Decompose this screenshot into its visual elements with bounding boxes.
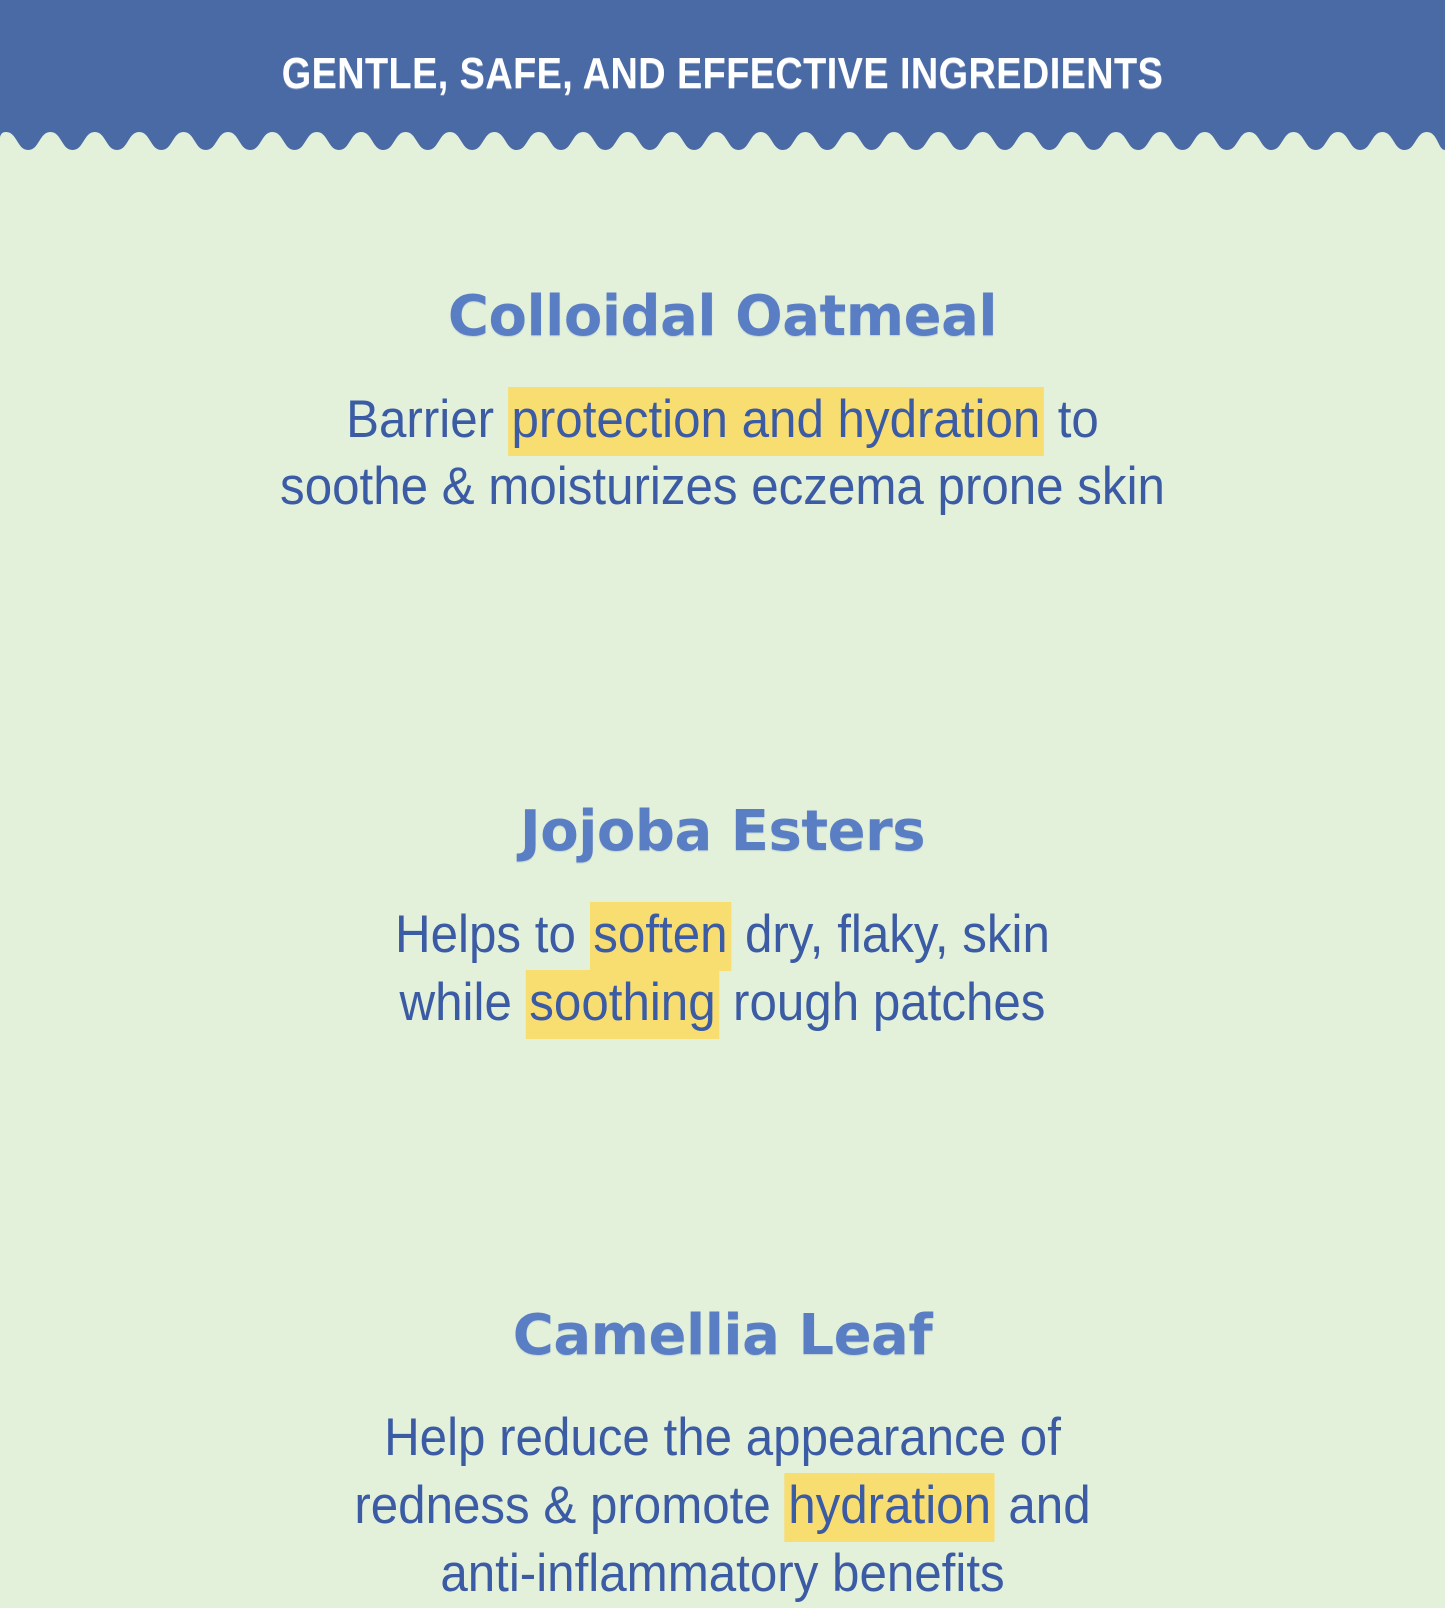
- text-run: rough patches: [719, 973, 1045, 1032]
- highlighted-text-run: soothing: [526, 970, 720, 1039]
- description-line: Helps to soften dry, flaky, skin: [51, 901, 1395, 969]
- text-run: Helps to: [395, 905, 590, 964]
- ingredient-section-colloidal-oatmeal: Colloidal Oatmeal Barrier protection and…: [0, 286, 1445, 521]
- description-line: Help reduce the appearance of: [51, 1404, 1395, 1472]
- scalloped-edge-decoration: [0, 128, 1445, 168]
- description-line: anti-inflammatory benefits: [51, 1540, 1395, 1608]
- description-line: soothe & moisturizes eczema prone skin: [51, 453, 1395, 521]
- ingredient-section-jojoba-esters: Jojoba Esters Helps to soften dry, flaky…: [0, 801, 1445, 1036]
- highlighted-text-run: soften: [590, 902, 732, 971]
- ingredient-description: Helps to soften dry, flaky, skin while s…: [51, 901, 1395, 1037]
- header-banner: GENTLE, SAFE, AND EFFECTIVE INGREDIENTS: [0, 0, 1445, 168]
- ingredients-list: Colloidal Oatmeal Barrier protection and…: [0, 168, 1445, 1445]
- ingredient-title: Camellia Leaf: [0, 1305, 1445, 1367]
- text-run: while: [400, 973, 526, 1032]
- ingredient-description: Help reduce the appearance of redness & …: [51, 1404, 1395, 1607]
- text-run: Barrier: [346, 390, 508, 449]
- text-run: and: [995, 1476, 1091, 1535]
- description-line: while soothing rough patches: [51, 969, 1395, 1037]
- text-run: Help reduce the appearance of: [384, 1408, 1061, 1467]
- text-run: to: [1044, 390, 1099, 449]
- ingredient-description: Barrier protection and hydration to soot…: [51, 386, 1395, 522]
- text-run: soothe & moisturizes eczema prone skin: [280, 457, 1165, 516]
- ingredient-section-camellia-leaf: Camellia Leaf Help reduce the appearance…: [0, 1305, 1445, 1608]
- highlighted-text-run: protection and hydration: [508, 387, 1044, 456]
- text-run: dry, flaky, skin: [731, 905, 1050, 964]
- highlighted-text-run: hydration: [784, 1473, 994, 1542]
- ingredient-title: Jojoba Esters: [0, 801, 1445, 863]
- description-line: Barrier protection and hydration to: [51, 386, 1395, 454]
- text-run: anti-inflammatory benefits: [440, 1544, 1004, 1603]
- ingredient-title: Colloidal Oatmeal: [0, 286, 1445, 348]
- description-line: redness & promote hydration and: [51, 1472, 1395, 1540]
- text-run: redness & promote: [354, 1476, 784, 1535]
- page-title: GENTLE, SAFE, AND EFFECTIVE INGREDIENTS: [101, 0, 1344, 148]
